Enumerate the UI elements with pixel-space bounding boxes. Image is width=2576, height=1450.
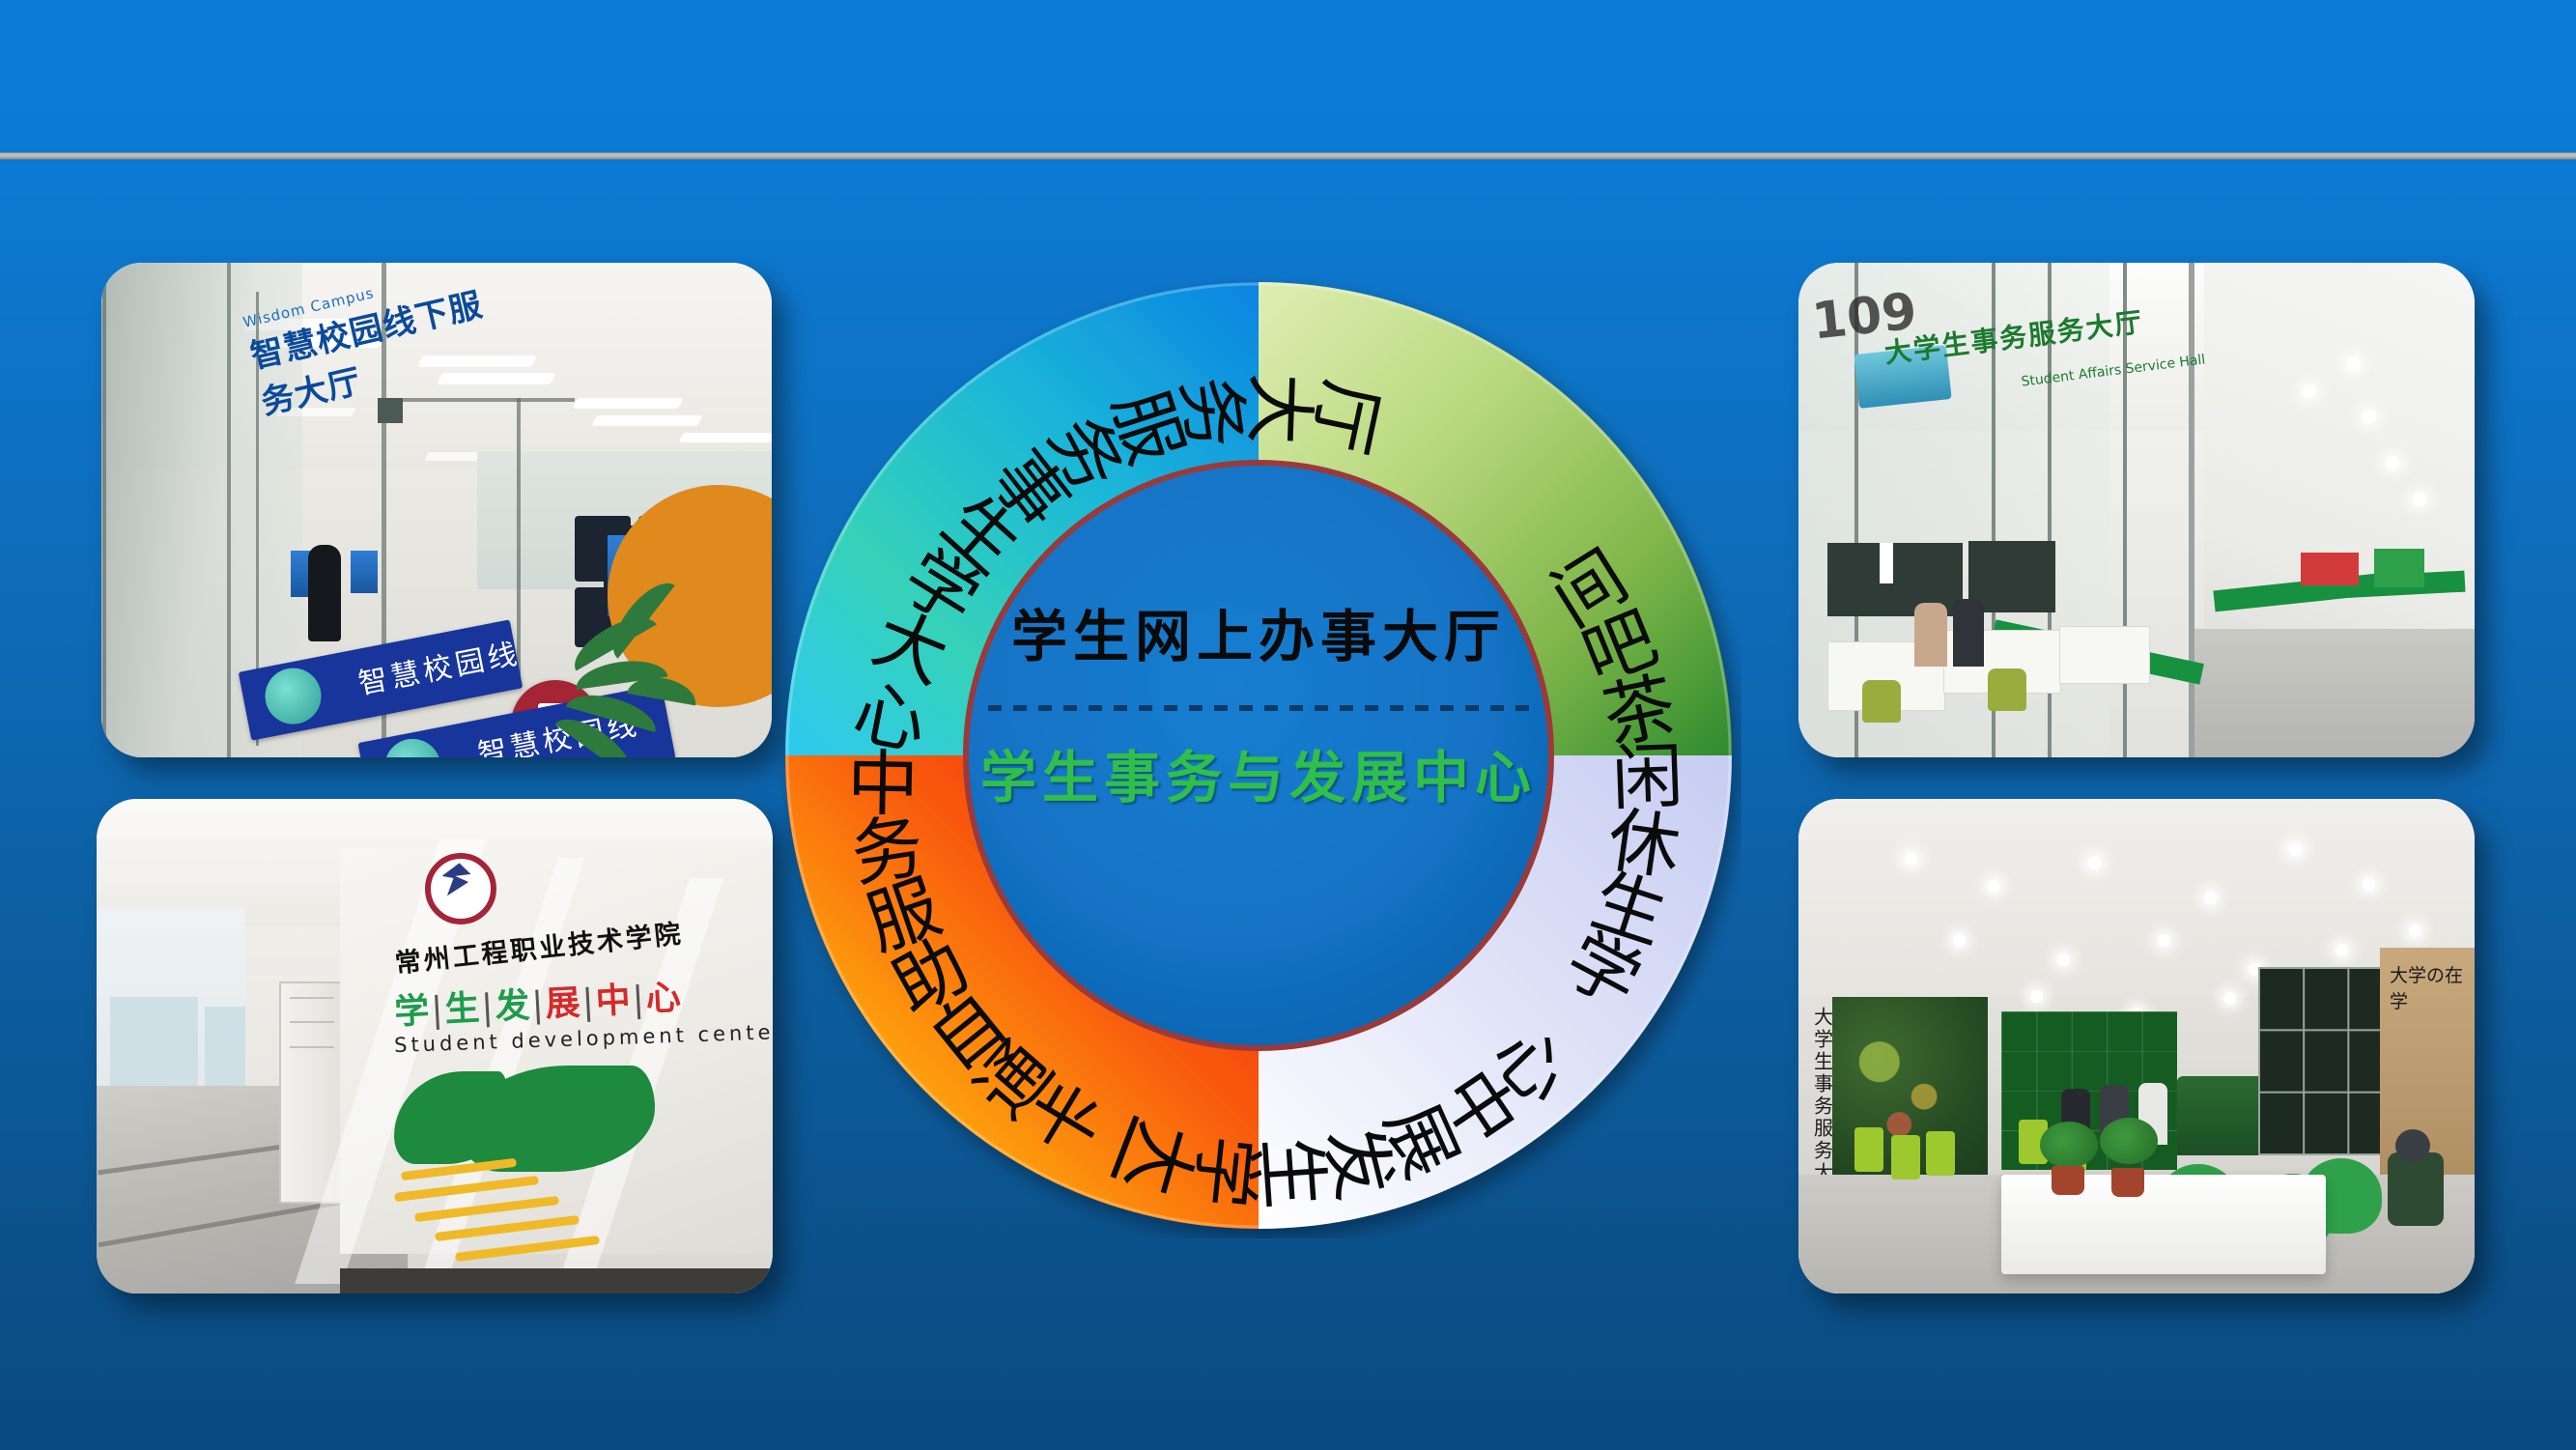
- center-divider: [988, 705, 1529, 711]
- photo-br-side-text: 大学の在学: [2390, 961, 2475, 1013]
- top-divider-rule: [0, 153, 2576, 159]
- photo-card-one-card-service-hall[interactable]: 智慧校园线 智慧校园线 Wisdom Campus 智慧校园线下服务大厅: [101, 263, 772, 757]
- donut-center: 学生网上办事大厅 学生事务与发展中心: [974, 591, 1543, 813]
- slide-root: 智慧校园线 智慧校园线 Wisdom Campus 智慧校园线下服务大厅: [0, 0, 2576, 1450]
- top-band: [0, 0, 2576, 155]
- center-title: 学生网上办事大厅: [974, 591, 1543, 672]
- glass-partition: [2258, 967, 2393, 1155]
- donut-diagram: 一 卡 通 自 助 服 务 中 心 大 学 生 事 务 服 务 大 厅 学 生 …: [776, 272, 1741, 1238]
- school-logo: [425, 853, 496, 924]
- photo-card-student-development-center[interactable]: 常州工程职业技术学院 学|生|发|展|中|心 Student developme…: [97, 799, 773, 1294]
- photo-card-student-affairs-hall[interactable]: 109 大学生事务服务大厅 Student Affairs Service Ha…: [1798, 263, 2475, 757]
- potted-plant: [552, 612, 735, 757]
- display-table: [2001, 1175, 2326, 1273]
- center-subtitle: 学生事务与发展中心: [974, 732, 1543, 813]
- photo-card-student-tea-lounge[interactable]: 大学生事务服务大厅 大学の在学: [1798, 799, 2475, 1294]
